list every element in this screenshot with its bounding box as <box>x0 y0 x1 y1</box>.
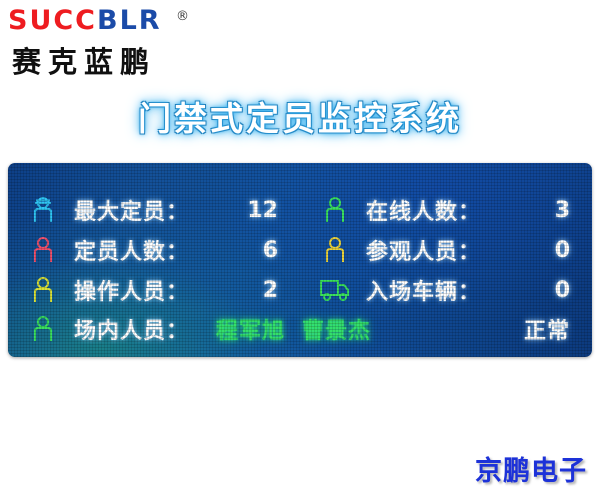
led-row-assigned-count: 定员人数： 6 <box>8 231 300 269</box>
led-name-item: 曹景杰 <box>302 313 371 345</box>
led-label-operators: 操作人员： <box>74 274 189 306</box>
logo-wordmark-blr: BLR <box>97 5 162 36</box>
led-row-visitors: 参观人员： 0 <box>300 231 592 269</box>
company-logo: SUCCBLR ® 赛克蓝鹏 <box>8 6 238 76</box>
led-onsite-names-list: 程军旭 曹景杰 <box>216 310 371 348</box>
led-value-assigned-count: 6 <box>263 238 278 263</box>
person-icon <box>26 312 60 346</box>
led-label-max-capacity: 最大定员： <box>74 194 189 226</box>
truck-icon <box>318 273 352 307</box>
led-value-online-count: 3 <box>555 198 570 223</box>
led-row-online-count: 在线人数： 3 <box>300 191 592 229</box>
led-value-max-capacity: 12 <box>247 198 278 223</box>
led-label-assigned-count: 定员人数： <box>74 234 189 266</box>
led-row-operators: 操作人员： 2 <box>8 271 300 309</box>
led-row-max-capacity: 最大定员： 12 <box>8 191 300 229</box>
person-icon <box>318 193 352 227</box>
led-status-badge: 正常 <box>524 310 570 348</box>
led-value-visitors: 0 <box>555 238 570 263</box>
led-row-vehicles: 入场车辆： 0 <box>300 271 592 309</box>
person-helmet-icon <box>26 193 60 227</box>
logo-wordmark-succ: SUCC <box>8 5 97 36</box>
led-label-vehicles: 入场车辆： <box>366 274 481 306</box>
led-display-panel: 最大定员： 12 定员人数： 6 <box>8 163 592 357</box>
led-label-online-count: 在线人数： <box>366 194 481 226</box>
registered-trademark-icon: ® <box>176 10 191 23</box>
logo-chinese-name: 赛克蓝鹏 <box>12 39 156 81</box>
person-icon <box>26 233 60 267</box>
person-icon <box>318 233 352 267</box>
led-value-operators: 2 <box>263 278 278 303</box>
led-value-vehicles: 0 <box>555 278 570 303</box>
led-name-item: 程军旭 <box>216 313 285 345</box>
logo-wordmark: SUCCBLR ® <box>8 6 238 36</box>
led-label-onsite-personnel: 场内人员： <box>74 313 189 345</box>
person-icon <box>26 273 60 307</box>
footer-company-name: 京鹏电子 <box>475 449 587 488</box>
led-label-visitors: 参观人员： <box>366 234 481 266</box>
page-title: 门禁式定员监控系统 <box>0 92 600 140</box>
